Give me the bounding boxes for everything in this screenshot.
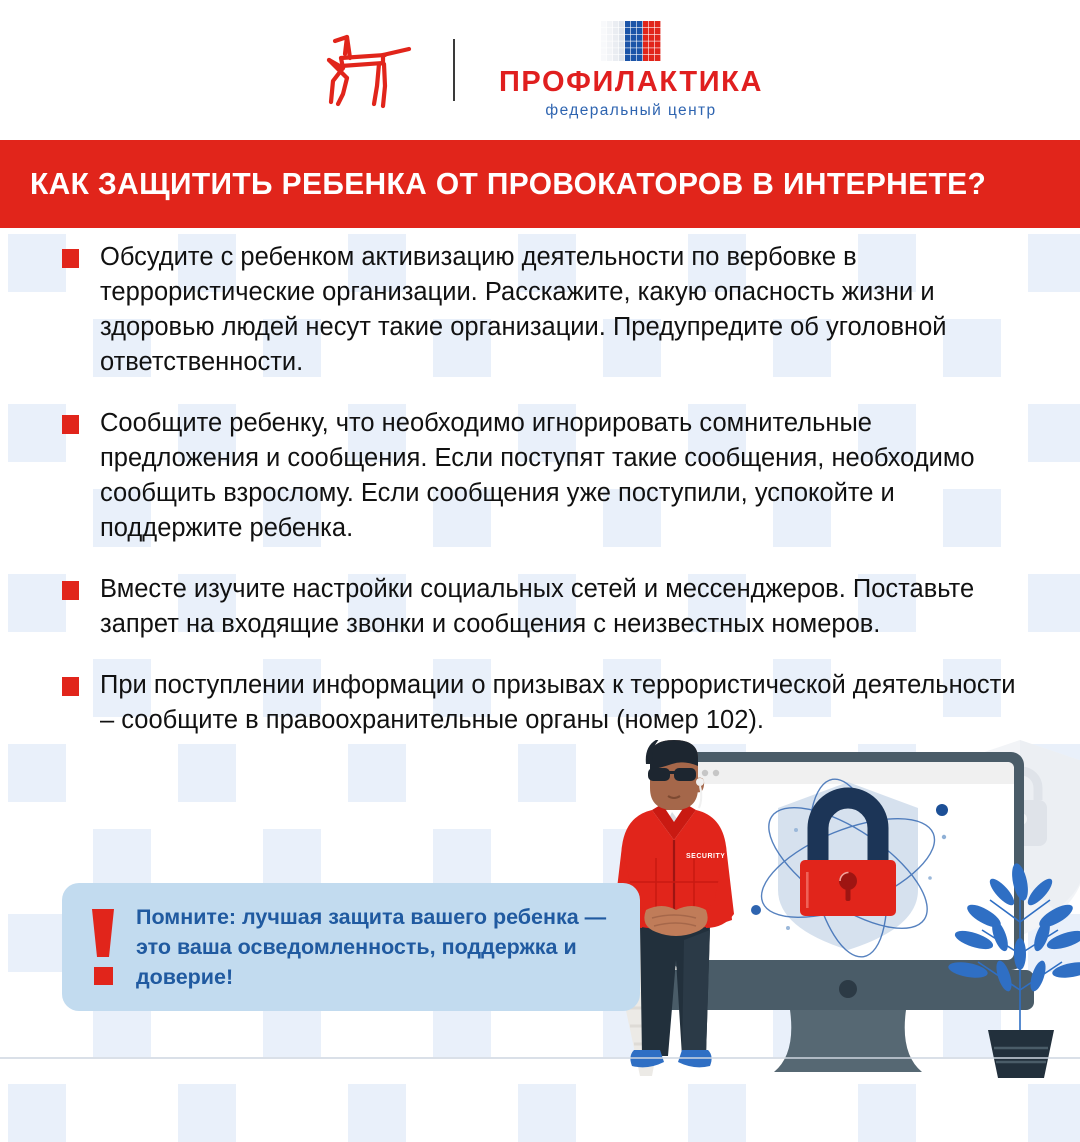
flag-cell — [649, 34, 654, 40]
logo-divider — [453, 39, 455, 101]
flag-cell — [607, 27, 612, 33]
flag-cell — [655, 21, 660, 27]
flag-cell — [655, 34, 660, 40]
flag-cell — [619, 48, 624, 54]
flag-cell — [637, 27, 642, 33]
brand-subtitle: федеральный центр — [545, 102, 716, 120]
flag-cell — [613, 21, 618, 27]
reminder-callout: Помните: лучшая защита вашего ребенка — … — [62, 883, 640, 1011]
flag-cell — [631, 41, 636, 47]
flag-cell — [637, 41, 642, 47]
flag-cell — [631, 34, 636, 40]
flag-cell — [643, 27, 648, 33]
advice-item-text: При поступлении информации о призывах к … — [100, 668, 1030, 738]
advice-list: Обсудите с ребенком активизацию деятельн… — [0, 240, 1030, 764]
flag-cell — [631, 27, 636, 33]
pattern-square — [178, 1084, 236, 1142]
pattern-square — [1028, 234, 1080, 292]
advice-item: Сообщите ребенку, что необходимо игнорир… — [62, 406, 1030, 546]
flag-cell — [613, 27, 618, 33]
pattern-square — [1028, 1084, 1080, 1142]
flag-cell — [601, 27, 606, 33]
russian-flag-grid-icon — [601, 21, 661, 61]
advice-item-text: Обсудите с ребенком активизацию деятельн… — [100, 240, 1030, 380]
pattern-square — [348, 1084, 406, 1142]
flag-cell — [655, 48, 660, 54]
flag-cell — [607, 41, 612, 47]
flag-cell — [613, 55, 618, 61]
flag-cell — [613, 48, 618, 54]
flag-cell — [601, 21, 606, 27]
flag-cell — [631, 48, 636, 54]
pattern-square — [518, 1084, 576, 1142]
flag-cell — [649, 27, 654, 33]
jacket-security-label: SECURITY — [686, 853, 725, 860]
advice-item: Обсудите с ребенком активизацию деятельн… — [62, 240, 1030, 380]
advice-item: При поступлении информации о призывах к … — [62, 668, 1030, 738]
flag-cell — [619, 34, 624, 40]
flag-cell — [607, 34, 612, 40]
advice-item-text: Сообщите ребенку, что необходимо игнорир… — [100, 406, 1030, 546]
page-title: КАК ЗАЩИТИТЬ РЕБЕНКА ОТ ПРОВОКАТОРОВ В И… — [30, 166, 986, 202]
brand-name: ПРОФИЛАКТИКА — [499, 68, 763, 97]
flag-cell — [637, 34, 642, 40]
flag-cell — [625, 21, 630, 27]
flag-cell — [613, 41, 618, 47]
flag-cell — [625, 48, 630, 54]
brand-logo-block: ПРОФИЛАКТИКА федеральный центр — [499, 21, 763, 120]
flag-cell — [613, 34, 618, 40]
flag-cell — [625, 34, 630, 40]
flag-cell — [631, 21, 636, 27]
red-square-bullet-icon — [62, 415, 79, 434]
red-square-bullet-icon — [62, 581, 79, 600]
advice-item: Вместе изучите настройки социальных сете… — [62, 572, 1030, 642]
flag-cell — [637, 48, 642, 54]
header-logo-bar: ПРОФИЛАКТИКА федеральный центр — [0, 0, 1080, 140]
flag-cell — [619, 55, 624, 61]
flag-cell — [625, 41, 630, 47]
red-square-bullet-icon — [62, 677, 79, 696]
flag-cell — [637, 21, 642, 27]
pattern-square — [1028, 574, 1080, 632]
flag-cell — [607, 55, 612, 61]
flag-cell — [625, 55, 630, 61]
pattern-square — [8, 1084, 66, 1142]
flag-cell — [601, 41, 606, 47]
flag-cell — [649, 55, 654, 61]
flag-cell — [637, 55, 642, 61]
flag-cell — [643, 55, 648, 61]
flag-cell — [607, 48, 612, 54]
flag-cell — [643, 21, 648, 27]
reminder-text: Помните: лучшая защита вашего ребенка — … — [136, 902, 640, 992]
flag-cell — [631, 55, 636, 61]
flag-cell — [643, 48, 648, 54]
flag-cell — [643, 34, 648, 40]
flag-cell — [601, 55, 606, 61]
flag-cell — [601, 48, 606, 54]
pattern-square — [1028, 404, 1080, 462]
dog-outline-icon — [317, 28, 413, 112]
title-bar: КАК ЗАЩИТИТЬ РЕБЕНКА ОТ ПРОВОКАТОРОВ В И… — [0, 140, 1080, 228]
flag-cell — [607, 21, 612, 27]
flag-cell — [655, 27, 660, 33]
flag-cell — [655, 41, 660, 47]
pattern-square — [688, 1084, 746, 1142]
flag-cell — [655, 55, 660, 61]
flag-cell — [649, 48, 654, 54]
flag-cell — [601, 34, 606, 40]
exclamation-mark-icon — [88, 909, 118, 985]
pattern-square — [858, 1084, 916, 1142]
advice-item-text: Вместе изучите настройки социальных сете… — [100, 572, 1030, 642]
flag-cell — [619, 21, 624, 27]
flag-cell — [649, 41, 654, 47]
flag-cell — [625, 27, 630, 33]
flag-cell — [643, 41, 648, 47]
flag-cell — [619, 27, 624, 33]
flag-cell — [649, 21, 654, 27]
red-square-bullet-icon — [62, 249, 79, 268]
flag-cell — [619, 41, 624, 47]
